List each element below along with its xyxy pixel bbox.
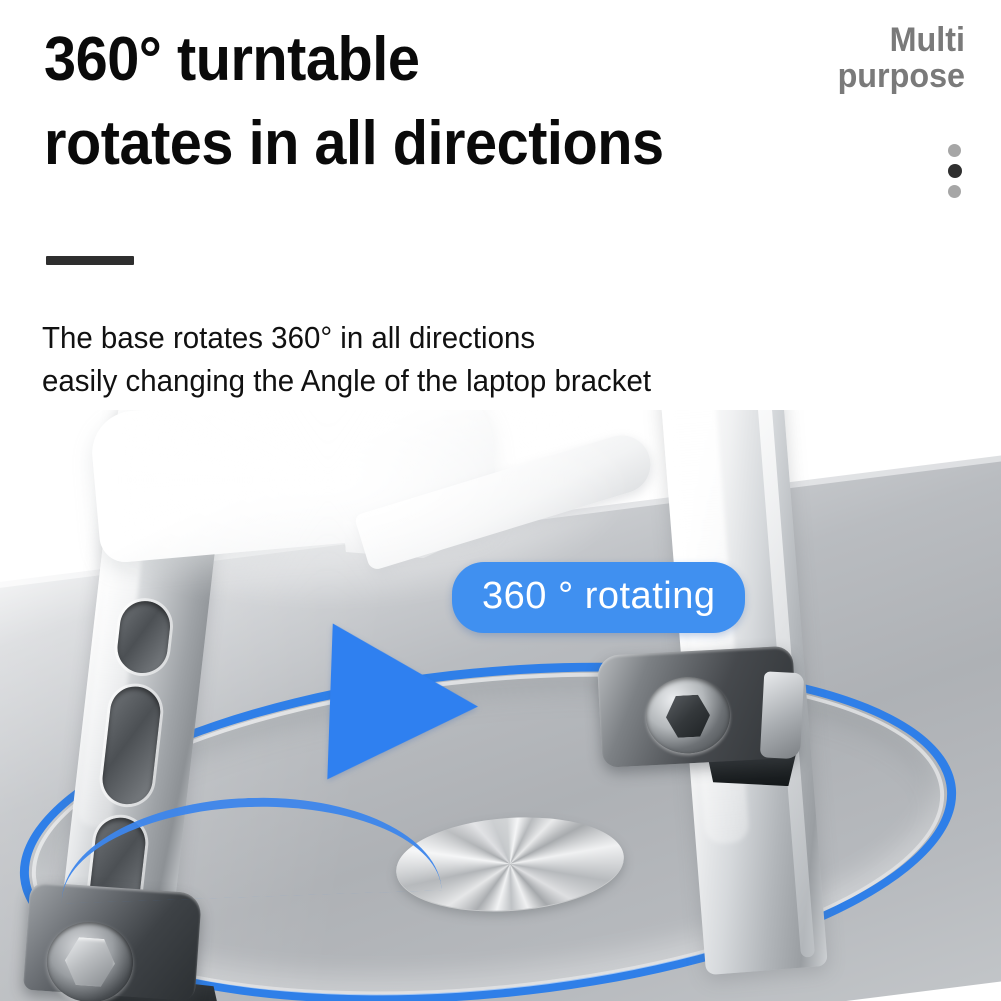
rotation-arrow-head <box>327 623 480 784</box>
product-feature-slide: 360° turntable rotates in all directions… <box>0 0 1001 1001</box>
accent-bar <box>46 256 134 265</box>
eyebrow-label: Multi purpose <box>737 22 965 94</box>
hinge-right-lug <box>760 671 804 759</box>
hinge-right-bolt-ring <box>644 675 732 755</box>
rotating-callout-badge: 360 ° rotating <box>452 562 745 633</box>
pagination-dot-3[interactable] <box>948 185 961 198</box>
pagination-dot-1[interactable] <box>948 144 961 157</box>
hinge-left-bolt-ring <box>44 919 135 1001</box>
pagination-dots[interactable] <box>948 144 964 205</box>
page-title: 360° turntable rotates in all directions <box>44 18 788 186</box>
hinge-right-hex-bolt <box>665 694 711 738</box>
hinge-right <box>588 630 836 802</box>
pagination-dot-2[interactable] <box>948 164 962 178</box>
subtitle-text: The base rotates 360° in all directions … <box>42 316 821 402</box>
hinge-left-hex-bolt <box>63 936 116 987</box>
product-photo: 360 ° rotating <box>0 410 1001 1001</box>
